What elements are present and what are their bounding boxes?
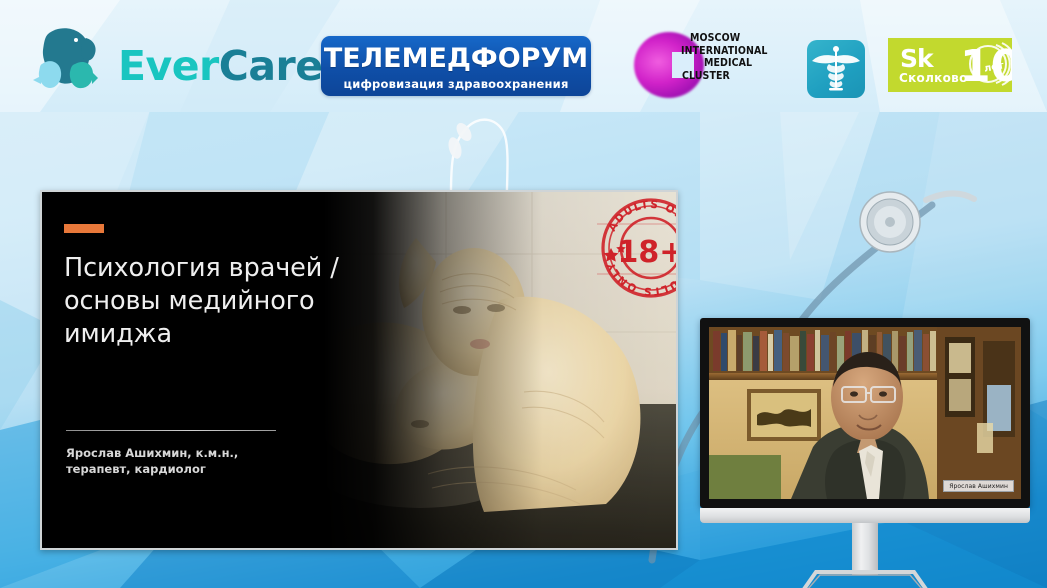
- broadcast-frame: EverCare ТЕЛЕМЕДФОРУМ цифровизация здрав…: [0, 0, 1047, 588]
- evercare-ever-text: Ever: [118, 42, 219, 90]
- monitor-stand-base: [798, 570, 932, 588]
- penguin-family-icon: [30, 26, 110, 98]
- header-logo-bar: EverCare ТЕЛЕМЕДФОРУМ цифровизация здрав…: [0, 0, 1047, 112]
- evercare-logo[interactable]: EverCare: [30, 24, 302, 100]
- skolkovo-logo[interactable]: Sk Сколково 10 лет: [888, 38, 1012, 92]
- mimc-wordmark: MOSCOW INTERNATIONAL MEDICAL CLUSTER: [678, 32, 804, 82]
- monitor-webcam[interactable]: Ярослав Ашихмин: [700, 318, 1030, 586]
- caduceus-icon: [807, 40, 865, 98]
- slide-accent-bar: [64, 224, 104, 233]
- mimc-line-3: MEDICAL: [678, 57, 804, 70]
- caduceus-logo[interactable]: [807, 40, 865, 98]
- mimc-line-2: INTERNATIONAL: [678, 45, 804, 58]
- speaker-name-tag: Ярослав Ашихмин: [943, 480, 1014, 492]
- moscow-international-medical-cluster-logo[interactable]: MOSCOW INTERNATIONAL MEDICAL CLUSTER: [634, 26, 804, 104]
- mimc-line-4: CLUSTER: [678, 70, 804, 83]
- monitor-bezel: Ярослав Ашихмин: [700, 318, 1030, 508]
- stamp-text-top: ADULTS ONLY: [606, 199, 678, 237]
- mimc-line-1: MOSCOW: [678, 32, 804, 45]
- stamp-value: 18+: [618, 235, 678, 270]
- evercare-care-text: Care: [219, 42, 323, 90]
- webcam-scene: [709, 327, 1021, 499]
- telemedforum-title: ТЕЛЕМЕДФОРУМ: [321, 45, 591, 72]
- monitor-stand-neck: [852, 523, 878, 575]
- slide-byline: Ярослав Ашихмин, к.м.н., терапевт, карди…: [66, 446, 306, 477]
- adults-only-stamp: ADULTS ONLY ADULTS ONLY 18+: [597, 194, 678, 302]
- telemedforum-subtitle: цифровизация здравоохранения: [321, 77, 591, 91]
- telemedforum-logo[interactable]: ТЕЛЕМЕДФОРУМ цифровизация здравоохранени…: [321, 36, 591, 96]
- webcam-feed[interactable]: Ярослав Ашихмин: [709, 327, 1021, 499]
- skolkovo-word: Сколково: [899, 71, 968, 85]
- slide-title: Психология врачей / основы медийного ими…: [64, 252, 354, 351]
- evercare-wordmark: EverCare: [118, 42, 323, 90]
- presentation-slide[interactable]: Психология врачей / основы медийного ими…: [40, 190, 678, 550]
- monitor-chin: [700, 508, 1030, 523]
- svg-text:ADULTS ONLY: ADULTS ONLY: [606, 199, 678, 237]
- slide-divider: [66, 430, 276, 431]
- skolkovo-mark: Sk: [900, 44, 933, 73]
